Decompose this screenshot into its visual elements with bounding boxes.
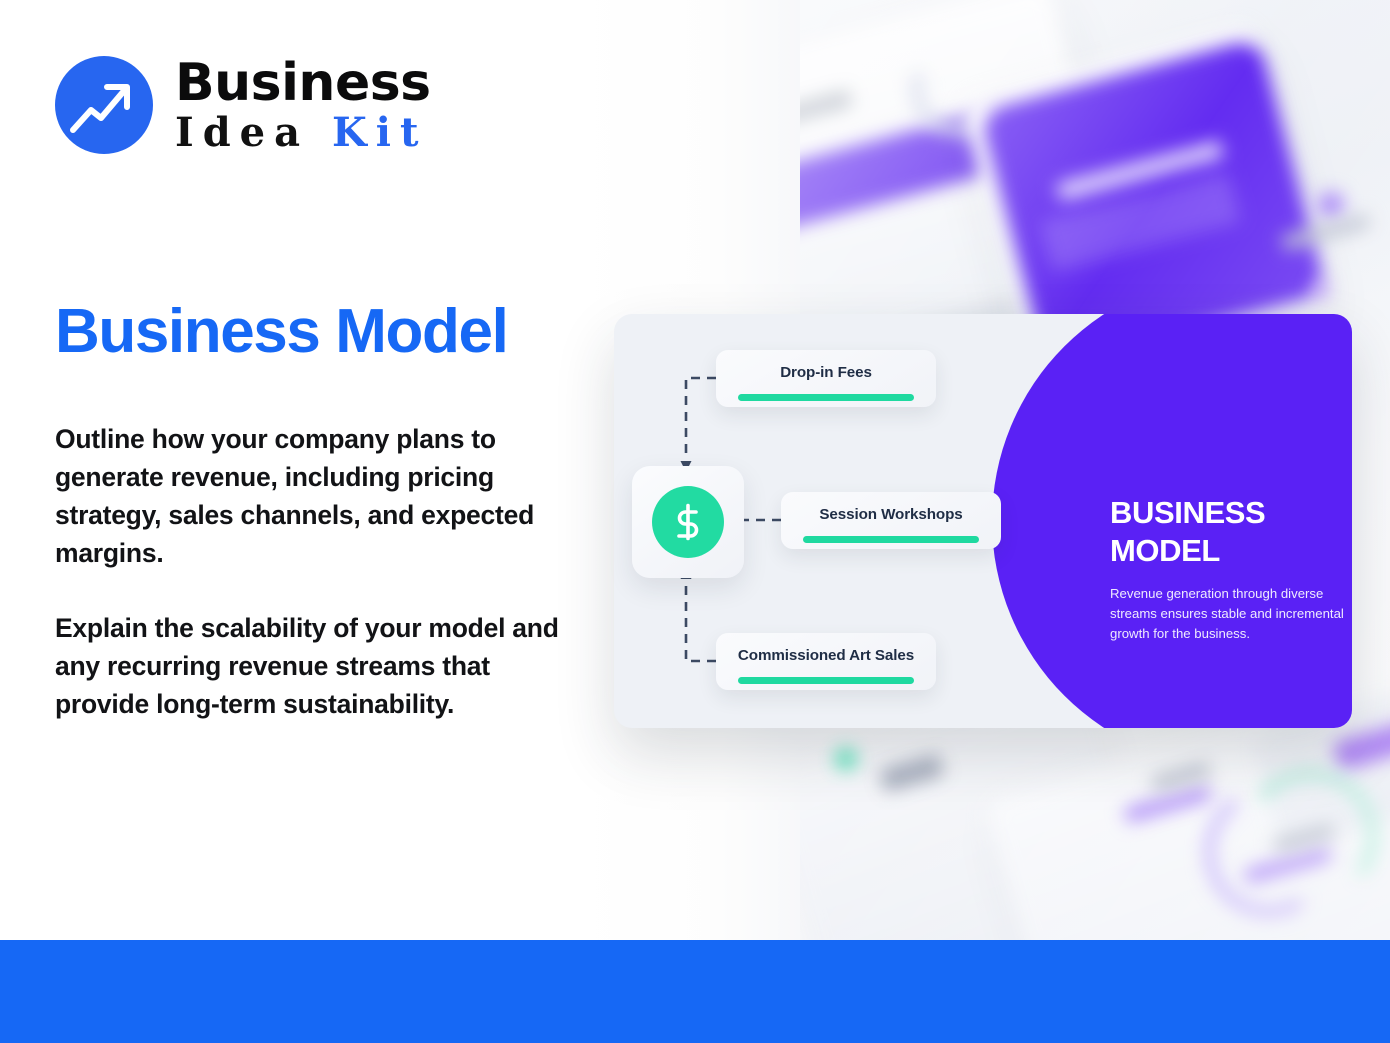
revenue-node-label: Drop-in Fees (716, 364, 936, 381)
brand-wordmark: Business Idea Kit (175, 57, 431, 153)
backdrop-dot (1313, 282, 1329, 298)
revenue-node-bar (738, 394, 914, 401)
page-title: Business Model (55, 296, 507, 367)
backdrop-dot (1318, 192, 1344, 218)
body-paragraph-2: Explain the scalability of your model an… (55, 609, 585, 723)
revenue-node-commissioned-art-sales[interactable]: Commissioned Art Sales (716, 633, 936, 690)
dollar-sign-icon (652, 486, 724, 558)
brand-name-line1: Business (175, 57, 431, 109)
revenue-node-drop-in-fees[interactable]: Drop-in Fees (716, 350, 936, 407)
revenue-node-label: Session Workshops (781, 506, 1001, 523)
backdrop-green-dot (835, 748, 857, 770)
growth-chart-arrow-icon (55, 56, 153, 154)
brand-name-kit: Kit (332, 109, 427, 156)
revenue-node-label: Commissioned Art Sales (716, 647, 936, 664)
revenue-center-node (632, 466, 744, 578)
brand-name-idea: Idea (175, 109, 309, 156)
revenue-node-bar (738, 677, 914, 684)
brand-name-line2: Idea Kit (175, 113, 431, 153)
brand-logo: Business Idea Kit (55, 56, 431, 154)
revenue-node-bar (803, 536, 979, 543)
slide-page: Business Idea Kit Business Model Outline… (0, 0, 1390, 1043)
footer-bar (0, 940, 1390, 1043)
revenue-node-session-workshops[interactable]: Session Workshops (781, 492, 1001, 549)
body-paragraph-1: Outline how your company plans to genera… (55, 420, 585, 572)
